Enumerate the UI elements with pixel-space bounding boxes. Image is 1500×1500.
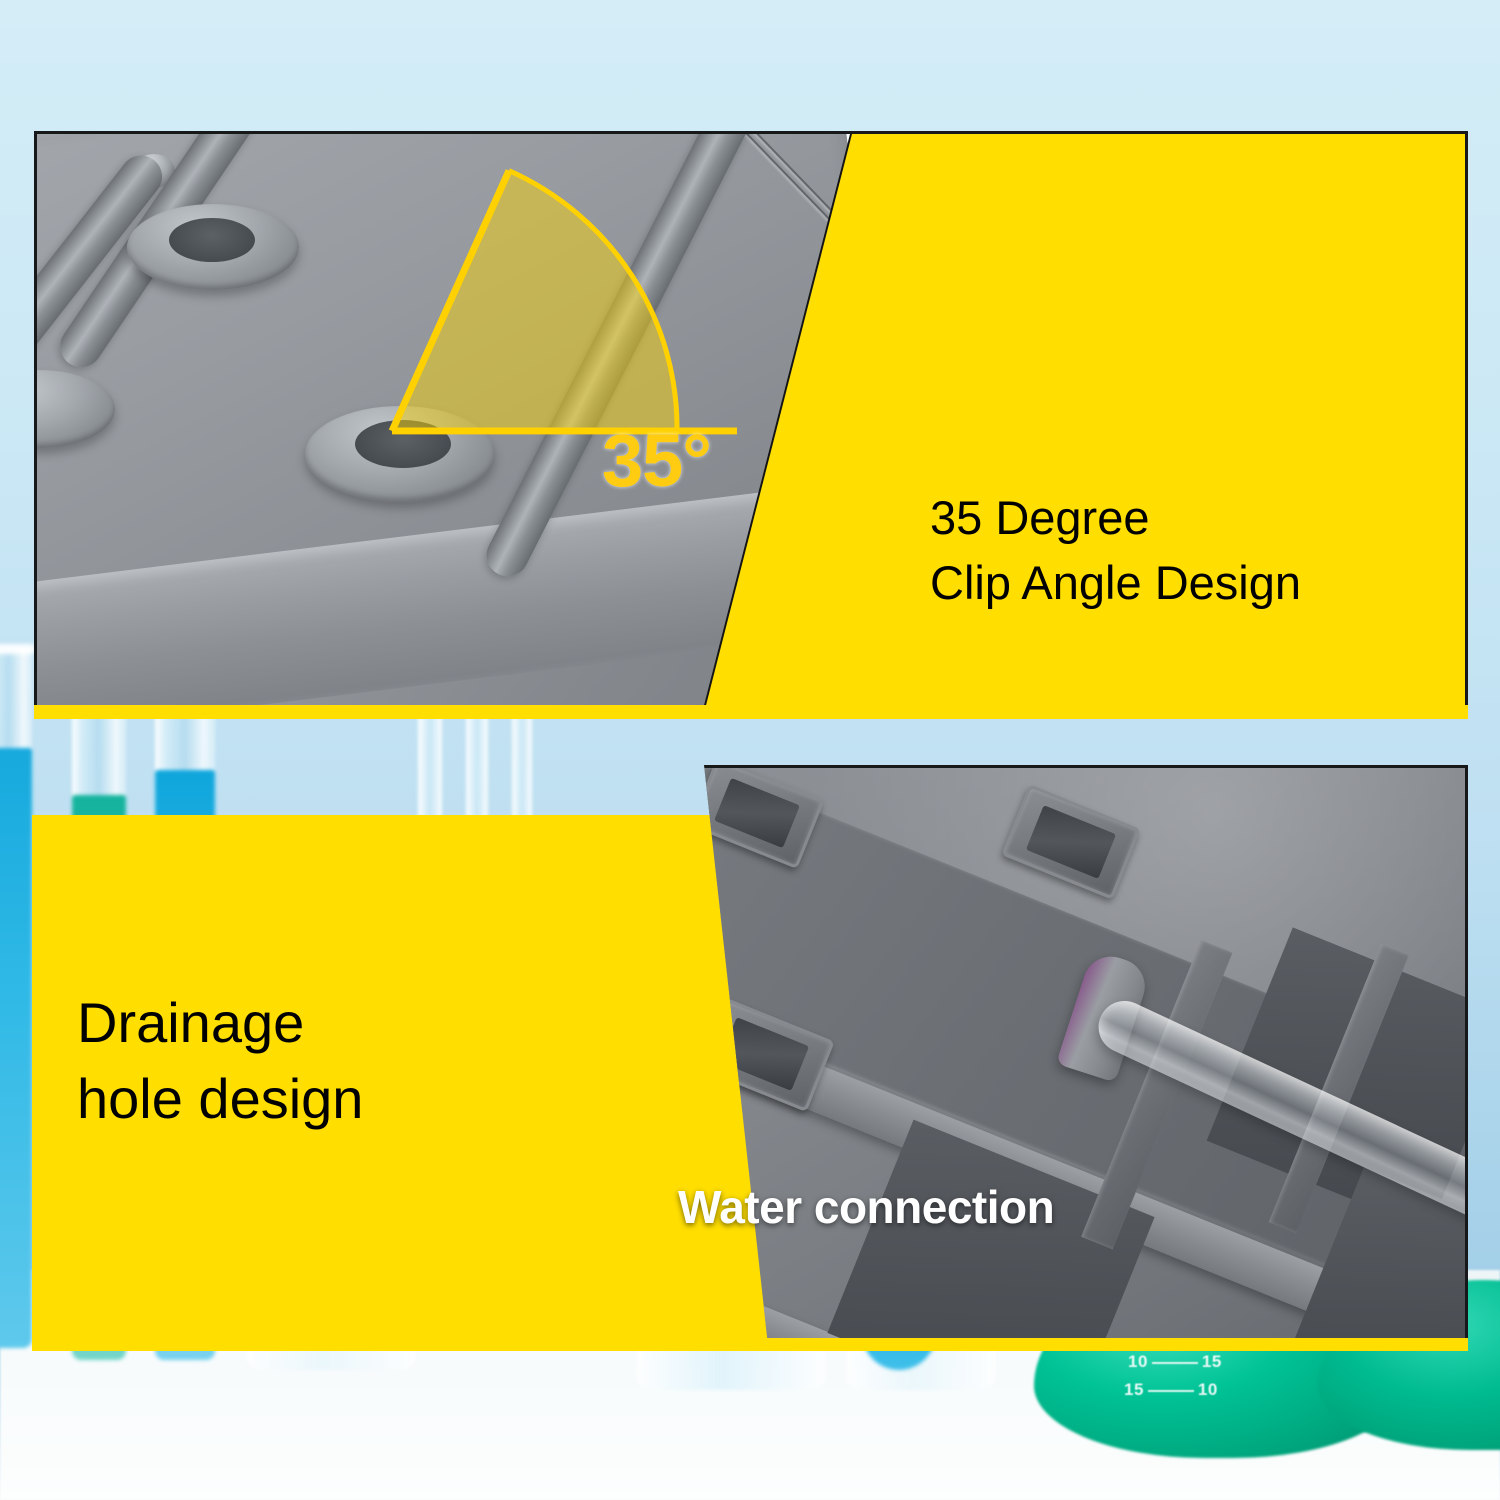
drainage-heading-line2: hole design xyxy=(77,1061,557,1137)
bottom-panel-yellow-strip xyxy=(32,1338,1468,1351)
graduation-right-value: 15 xyxy=(1202,1352,1222,1371)
drainage-slot xyxy=(1001,784,1141,899)
clip-angle-heading-line2: Clip Angle Design xyxy=(930,551,1450,616)
clip-angle-product-photo: 35° xyxy=(37,134,837,715)
water-connection-label: Water connection xyxy=(678,1180,1054,1234)
graduation-left-value: 15 xyxy=(1124,1380,1144,1399)
drainage-heading-line1: Drainage xyxy=(77,985,557,1061)
angle-indicator-overlay xyxy=(37,134,837,715)
drainage-heading: Drainage hole design xyxy=(77,985,557,1137)
flask-graduation-row-1: 1015 xyxy=(1128,1352,1222,1372)
graduation-tick xyxy=(1148,1390,1194,1392)
drainage-product-photo xyxy=(678,765,1468,1345)
clip-angle-heading: 35 Degree Clip Angle Design xyxy=(930,486,1450,616)
graduation-left-value: 10 xyxy=(1128,1352,1148,1371)
clip-angle-heading-line1: 35 Degree xyxy=(930,486,1450,551)
flask-graduation-row-2: 1510 xyxy=(1124,1380,1218,1400)
clip-angle-panel: 35° 35 Degree Clip Angle Design xyxy=(34,131,1468,718)
tube-rim xyxy=(0,644,35,654)
tube-liquid xyxy=(0,748,32,1348)
graduation-tick xyxy=(1152,1362,1198,1364)
angle-wedge xyxy=(392,171,677,431)
top-panel-yellow-strip xyxy=(34,705,1468,719)
graduation-right-value: 10 xyxy=(1198,1380,1218,1399)
test-tube xyxy=(0,648,32,1348)
angle-value-label: 35° xyxy=(602,418,711,503)
